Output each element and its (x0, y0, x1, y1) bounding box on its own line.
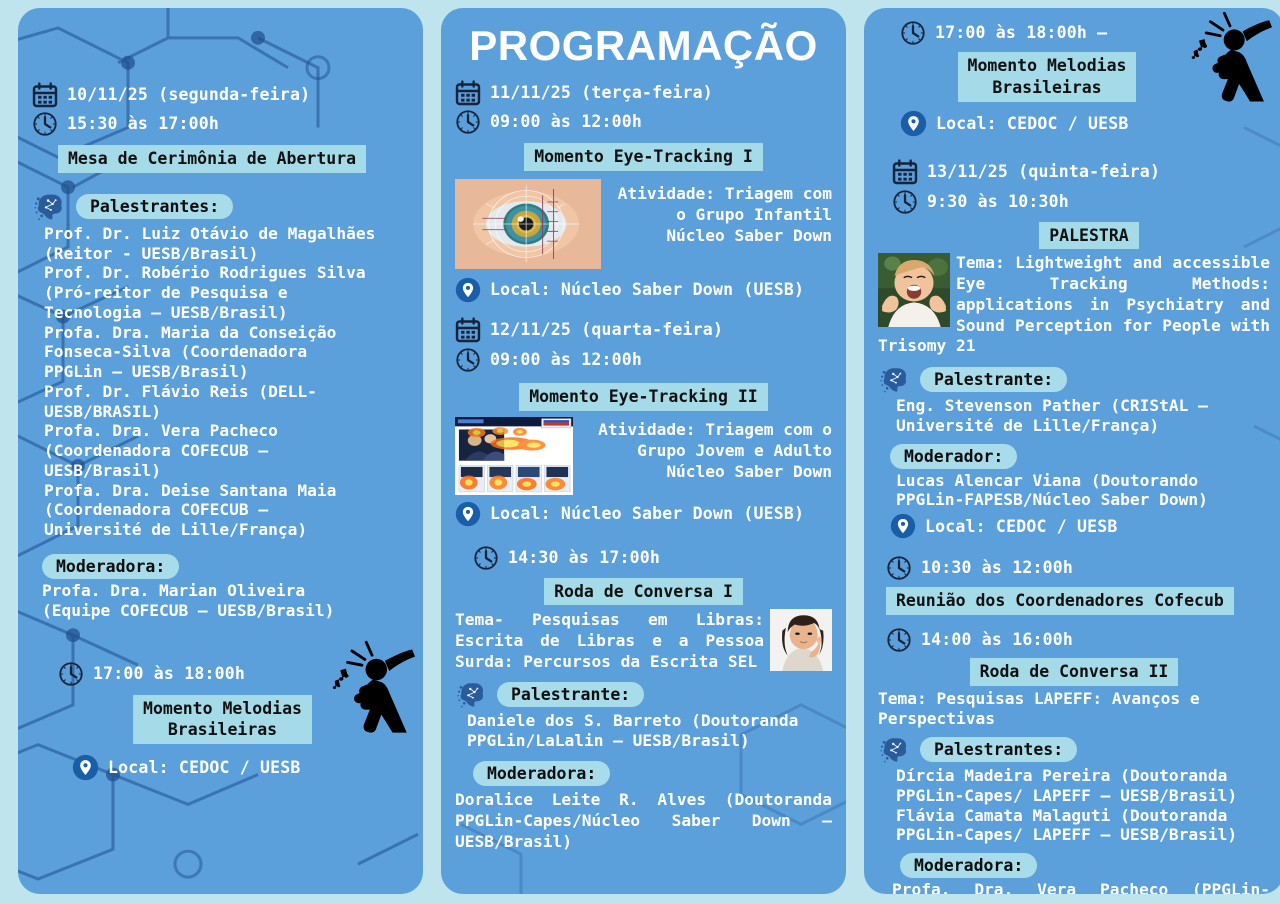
moderator-line: Profa. Dra. Marian Oliveira (42, 581, 409, 601)
local-row: Local: Núcleo Saber Down (UESB) (455, 501, 832, 527)
date-row-day2: 11/11/25 (terça-feira) (455, 80, 832, 106)
child-smiling-photo (878, 253, 950, 327)
speaker-line: Eng. Stevenson Pather (CRIStAL – (896, 396, 1270, 416)
speaker-line: Prof. Dr. Robério Rodrigues Silva (44, 263, 409, 283)
time-row-roda1: 14:30 às 17:00h (473, 545, 832, 571)
time-row-day1: 15:30 às 17:00h (32, 111, 409, 137)
session-title-roda2: Roda de Conversa II (970, 658, 1179, 686)
date-text: 10/11/25 (segunda-feira) (67, 82, 310, 106)
date-row-day3: 12/11/25 (quarta-feira) (455, 317, 832, 343)
speaker-line: PPGLin-Capes/ LAPEFF – UESB/Brasil) (896, 786, 1270, 806)
speaker-line: UESB/Brasil) (44, 461, 409, 481)
location-pin-icon (455, 277, 481, 303)
moderator-label: Moderadora: (473, 761, 610, 786)
time-row-day3: 09:00 às 12:00h (455, 347, 832, 373)
speakers-label: Palestrantes: (920, 737, 1077, 762)
speaker-line: (Coordenadora COFECUB – (44, 500, 409, 520)
speaker-line: Dírcia Madeira Pereira (Doutoranda (896, 766, 1270, 786)
time-text: 09:00 às 12:00h (490, 109, 642, 133)
time-row-day4: 9:30 às 10:30h (892, 189, 1270, 215)
speaker-line: PPGLin/LaLalin – UESB/Brasil) (467, 731, 832, 751)
singer-silhouette-icon (329, 639, 415, 733)
speaker-line: Profa. Dra. Vera Pacheco (44, 421, 409, 441)
clock-icon (886, 555, 912, 581)
clock-icon (473, 545, 499, 571)
clock-icon (455, 109, 481, 135)
time-text: 17:00 às 18:00h – (935, 20, 1107, 44)
brain-ai-icon (880, 735, 912, 764)
moderator-label: Moderadora: (900, 853, 1037, 878)
local-row: Local: CEDOC / UESB (900, 110, 1270, 137)
speaker-line: PPGLin – UESB/Brasil) (44, 362, 409, 382)
singer-silhouette-icon (1188, 10, 1272, 102)
roda2-time-row: 14:00 às 16:00h (886, 627, 1270, 653)
theme-text-roda2: Tema: Pesquisas LAPEFF: Avanços e Perspe… (878, 689, 1270, 730)
column-day-1: 10/11/25 (segunda-feira) 15:30 às 17:00h… (18, 8, 423, 894)
speaker-label-row: Palestrante: (457, 680, 832, 709)
session-title-opening: Mesa de Cerimônia de Abertura (58, 145, 366, 173)
brain-ai-icon (457, 680, 489, 709)
speaker-label: Palestrante: (497, 682, 644, 707)
moderator-text: Profa. Dra. Vera Pacheco (PPGLin-LAPEFF/… (892, 880, 1270, 894)
date-text: 11/11/25 (terça-feira) (490, 80, 713, 104)
session-title-music: Momento Melodias Brasileiras (133, 695, 312, 745)
time-text: 14:30 às 17:00h (508, 545, 660, 569)
local-text: Local: Núcleo Saber Down (UESB) (490, 280, 804, 299)
clock-icon (892, 189, 918, 215)
speaker-line: Prof. Dr. Luiz Otávio de Magalhães (44, 224, 409, 244)
session-title-eye1: Momento Eye-Tracking I (524, 143, 763, 171)
speaker-line: Daniele dos S. Barreto (Doutoranda (467, 711, 832, 731)
local-row: Local: Núcleo Saber Down (UESB) (455, 277, 832, 303)
speaker-line: Université de Lille/França) (44, 520, 409, 540)
local-text: Local: Núcleo Saber Down (UESB) (490, 504, 804, 523)
woman-signing-libras-photo (770, 609, 832, 671)
moderator-list: Profa. Dra. Marian Oliveira (Equipe COFE… (42, 581, 409, 621)
session-title-roda1: Roda de Conversa I (544, 578, 743, 606)
clock-icon (32, 111, 58, 137)
speaker-line: (Pró-reitor de Pesquisa e (44, 283, 409, 303)
music-line-2: Brasileiras (992, 78, 1101, 97)
moderator-text: Doralice Leite R. Alves (Doutoranda PPGL… (455, 789, 832, 852)
eye-tracking-iris-photo (455, 179, 601, 269)
brain-ai-icon (34, 191, 68, 222)
time-text: 10:30 às 12:00h (921, 555, 1073, 579)
palestra-badge: PALESTRA (1039, 222, 1138, 250)
speaker-list: Daniele dos S. Barreto (Doutoranda PPGLi… (467, 711, 832, 751)
date-text: 12/11/25 (quarta-feira) (490, 317, 723, 341)
speaker-line: Profa. Dra. Maria da Conseição (44, 323, 409, 343)
speaker-line: Fonseca-Silva (Coordenadora (44, 342, 409, 362)
meeting-time-row: 10:30 às 12:00h (886, 555, 1270, 581)
speakers-label: Palestrantes: (76, 194, 233, 219)
speaker-line: Prof. Dr. Flávio Reis (DELL- (44, 382, 409, 402)
speaker-line: PPGLin-Capes/ LAPEFF – UESB/Brasil) (896, 825, 1270, 845)
session-title-meeting: Reunião dos Coordenadores Cofecub (886, 587, 1234, 615)
date-text: 13/11/25 (quinta-feira) (927, 159, 1160, 183)
clock-icon (886, 627, 912, 653)
speaker-label-row: Palestrante: (880, 365, 1270, 394)
calendar-icon (32, 82, 58, 108)
page-title: PROGRAMAÇÃO (455, 22, 832, 70)
speakers-label-row: Palestrantes: (34, 191, 409, 222)
moderator-label: Moderador: (890, 444, 1017, 469)
session-title-eye2: Momento Eye-Tracking II (519, 383, 767, 411)
music-line-1: Momento Melodias (143, 699, 302, 718)
speaker-line: (Coordenadora COFECUB – (44, 441, 409, 461)
calendar-icon (892, 159, 918, 185)
moderator-list: Lucas Alencar Viana (Doutorando PPGLin-F… (896, 471, 1270, 511)
time-text: 15:30 às 17:00h (67, 111, 219, 135)
clock-icon (58, 661, 84, 687)
eye-tracking-heatmap-photo (455, 417, 573, 495)
speaker-list: Dírcia Madeira Pereira (Doutoranda PPGLi… (896, 766, 1270, 845)
calendar-icon (455, 317, 481, 343)
time-text: 9:30 às 10:30h (927, 189, 1069, 213)
program-poster: 10/11/25 (segunda-feira) 15:30 às 17:00h… (0, 0, 1280, 904)
speakers-label-row: Palestrantes: (880, 735, 1270, 764)
music-line-2: Brasileiras (168, 720, 277, 739)
location-pin-icon (72, 754, 99, 781)
location-pin-icon (455, 501, 481, 527)
speaker-line: Flávia Camata Malaguti (Doutoranda (896, 806, 1270, 826)
moderator-line: PPGLin-FAPESB/Núcleo Saber Down) (896, 490, 1270, 510)
local-text: Local: CEDOC / UESB (925, 517, 1118, 536)
moderator-line: Lucas Alencar Viana (Doutorando (896, 471, 1270, 491)
speaker-list: Prof. Dr. Luiz Otávio de Magalhães (Reit… (44, 224, 409, 540)
speaker-line: UESB/BRASIL) (44, 402, 409, 422)
local-row: Local: CEDOC / UESB (890, 513, 1270, 539)
column-day-2-3: PROGRAMAÇÃO 11/11/25 (terça-feira) 09:00… (441, 8, 846, 894)
clock-icon (900, 20, 926, 46)
location-pin-icon (890, 513, 916, 539)
location-pin-icon (900, 110, 927, 137)
speaker-line: Profa. Dra. Deise Santana Maia (44, 481, 409, 501)
local-row: Local: CEDOC / UESB (72, 754, 409, 781)
session-title-music: Momento Melodias Brasileiras (958, 52, 1137, 102)
music-line-1: Momento Melodias (968, 56, 1127, 75)
speaker-list: Eng. Stevenson Pather (CRIStAL – Univers… (896, 396, 1270, 436)
local-text: Local: CEDOC / UESB (936, 114, 1129, 133)
moderator-line: (Equipe COFECUB – UESB/Brasil) (42, 601, 409, 621)
local-text: Local: CEDOC / UESB (108, 758, 301, 777)
date-row-day1: 10/11/25 (segunda-feira) (32, 82, 409, 108)
time-row-day2: 09:00 às 12:00h (455, 109, 832, 135)
speaker-line: Tecnologia – UESB/Brasil) (44, 303, 409, 323)
clock-icon (455, 347, 481, 373)
speaker-label: Palestrante: (920, 367, 1067, 392)
calendar-icon (455, 80, 481, 106)
speaker-line: (Reitor - UESB/Brasil) (44, 244, 409, 264)
speaker-line: Université de Lille/França) (896, 416, 1270, 436)
brain-ai-icon (880, 365, 912, 394)
time-text: 17:00 às 18:00h (93, 661, 245, 685)
time-text: 09:00 às 12:00h (490, 347, 642, 371)
column-day-4: 17:00 às 18:00h – Momento Melodias Brasi… (864, 8, 1280, 894)
time-text: 14:00 às 16:00h (921, 627, 1073, 651)
date-row-day4: 13/11/25 (quinta-feira) (892, 159, 1270, 185)
moderator-label: Moderadora: (42, 554, 179, 579)
